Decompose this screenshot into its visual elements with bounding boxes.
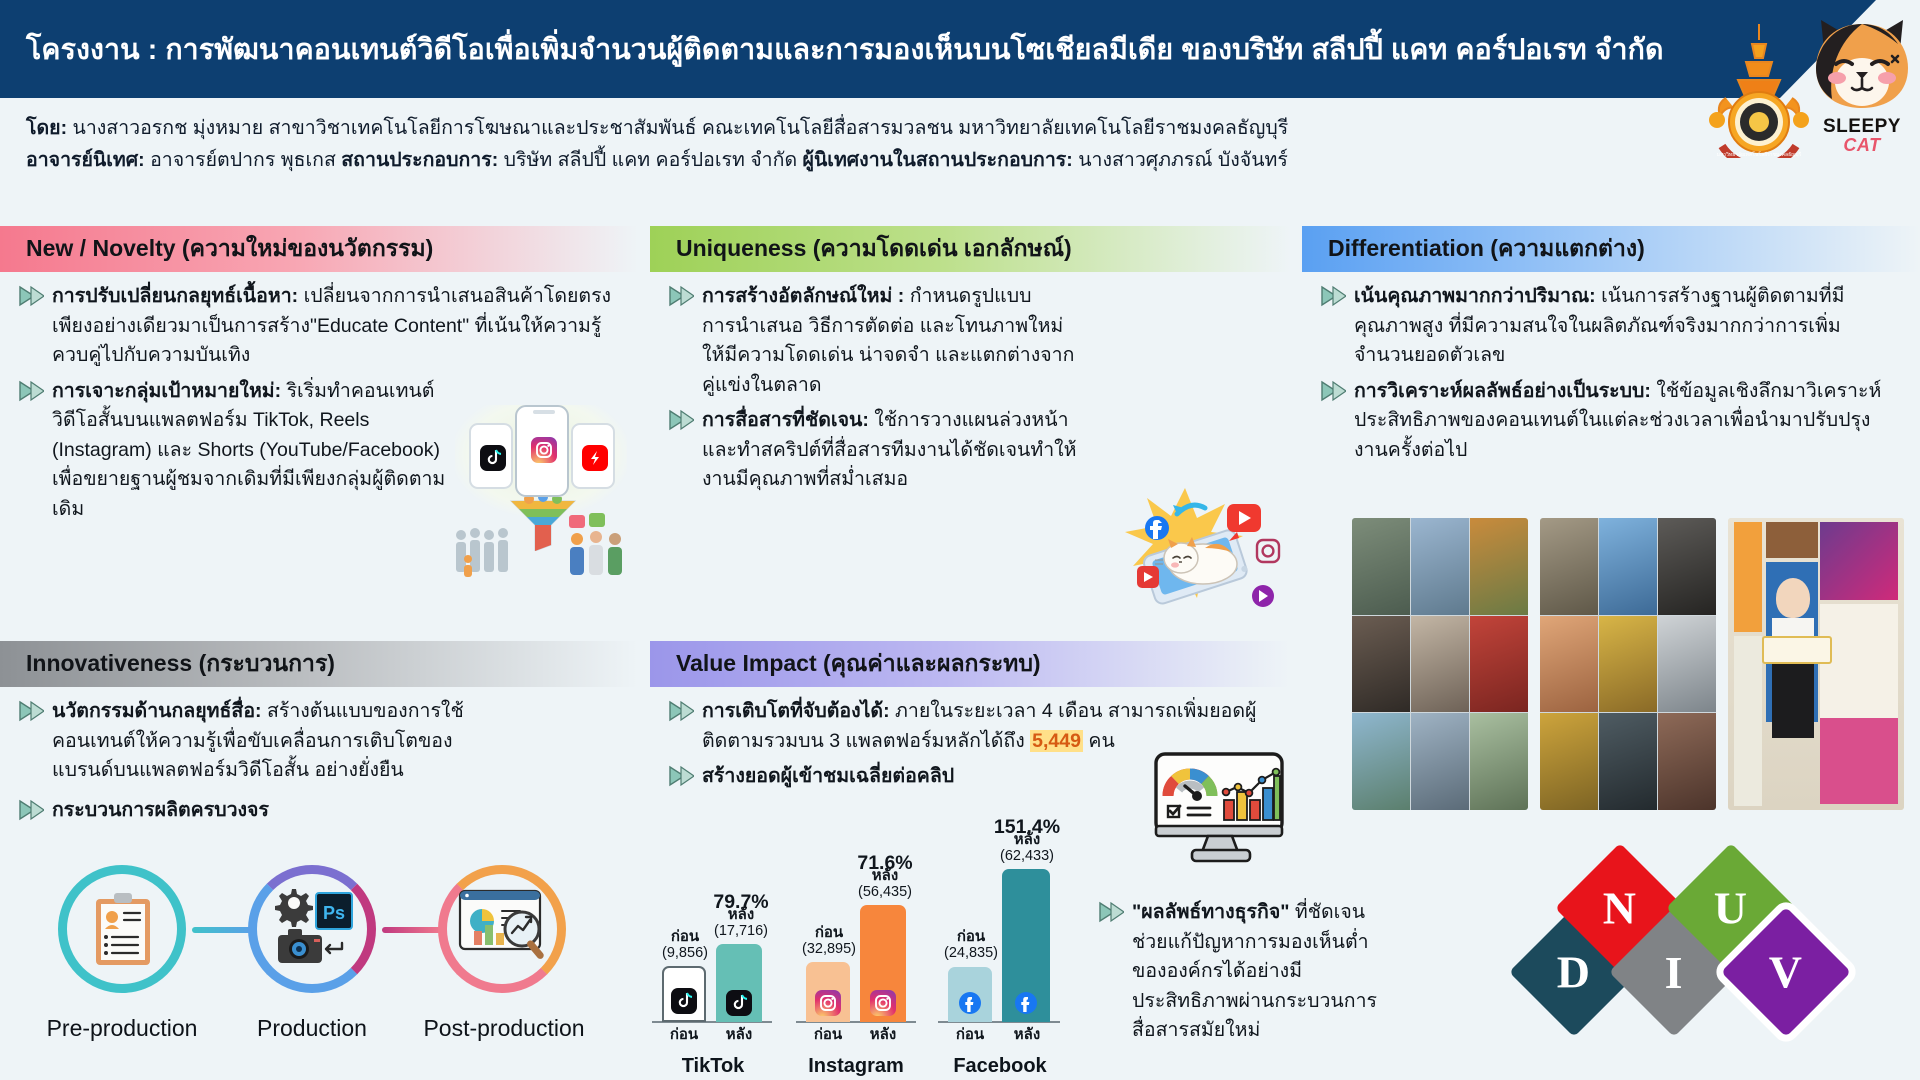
tiktok-icon (671, 988, 697, 1014)
label-instagram-before: ก่อน (32,895) (788, 924, 870, 958)
chevron-bullet-icon (668, 409, 694, 431)
advisor-value: อาจารย์ตปากร พุธเกส (150, 149, 336, 171)
tiktok-icon (726, 990, 752, 1016)
chevron-bullet-icon (668, 285, 694, 307)
screenshot-column-2 (1540, 518, 1716, 810)
section-title-innovativeness: Innovativeness (กระบวนการ) (0, 646, 335, 682)
result-lead: "ผลลัพธ์ทางธุรกิจ" (1132, 901, 1290, 923)
bullet-lead: การสร้างอัตลักษณ์ใหม่ : (702, 285, 904, 307)
author-block: โดย: นางสาวอรกช มุ่งหมาย สาขาวิชาเทคโนโล… (26, 112, 1666, 176)
engaged-users-icon (567, 513, 625, 577)
chevron-bullet-icon (18, 799, 44, 821)
platform-name-tiktok: TikTok (658, 1055, 768, 1078)
screenshot-column-1 (1352, 518, 1528, 810)
svg-text:Ps: Ps (323, 903, 345, 923)
author-value: นางสาวอรกช มุ่งหมาย สาขาวิชาเทคโนโลยีการ… (72, 117, 1288, 139)
pipeline-label-pre: Pre-production (42, 1015, 202, 1042)
advisor-label: อาจารย์นิเทศ: (26, 149, 145, 171)
production-pipeline-diagram: Ps Pre-production Production Post-produc (52, 865, 612, 1065)
pipeline-connector-1 (192, 927, 252, 933)
chevron-bullet-icon (18, 380, 44, 402)
tick-facebook-after: หลัง (1002, 1022, 1052, 1046)
chevron-bullet-icon (18, 285, 44, 307)
label-tiktok-after: หลัง (17,716) (700, 906, 782, 940)
advisor-line: อาจารย์นิเทศ: อาจารย์ตปากร พุธเกส สถานปร… (26, 144, 1666, 176)
instagram-icon (531, 437, 557, 463)
company-name-line1: SLEEPY (1808, 117, 1916, 136)
business-result-note: "ผลลัพธ์ทางธุรกิจ" ที่ชัดเจนช่วยแก้ปัญหา… (1092, 898, 1392, 1052)
bullet-lead: การเติบโตที่จับต้องได้: (702, 700, 890, 722)
platform-name-facebook: Facebook (938, 1055, 1062, 1078)
audience-people-icon (453, 523, 517, 577)
bullet-item: กระบวนการผลิตครบวงจร (12, 796, 626, 826)
company-logo: SLEEPY CAT (1808, 12, 1916, 162)
author-label: โดย: (26, 117, 67, 139)
bullet-lead: กระบวนการผลิตครบวงจร (52, 799, 269, 821)
award-photo (1728, 518, 1904, 810)
sleepy-cat-face-icon (1808, 12, 1916, 116)
bullet-lead: การสื่อสารที่ชัดเจน: (702, 409, 869, 431)
chevron-bullet-icon (668, 765, 694, 787)
supervisor-label: ผู้นิเทศงานในสถานประกอบการ: (803, 149, 1073, 171)
label-instagram-after: หลัง (56,435) (844, 867, 926, 901)
youtube-shorts-icon (582, 445, 608, 471)
chevron-bullet-icon (1320, 285, 1346, 307)
analytics-dashboard-magnifier-icon (458, 887, 550, 973)
section-body-differentiation: เน้นคุณภาพมากกว่าปริมาณ: เน้นการสร้างฐาน… (1302, 272, 1920, 465)
company-value: บริษัท สลีปปี้ แคท คอร์ปอเรท จำกัด (504, 149, 797, 171)
pipeline-label-post: Post-production (414, 1015, 594, 1042)
author-line: โดย: นางสาวอรกช มุ่งหมาย สาขาวิชาเทคโนโล… (26, 112, 1666, 144)
tick-instagram-before: ก่อน (804, 1022, 852, 1046)
bar-facebook-before (948, 967, 992, 1022)
tick-facebook-before: ก่อน (946, 1022, 994, 1046)
bullet-item: นวัตกรรมด้านกลยุทธ์สื่อ: สร้างต้นแบบของก… (12, 697, 472, 786)
tick-tiktok-before: ก่อน (660, 1022, 708, 1046)
phone-left (469, 423, 513, 489)
nidv-logo: D N I U V (1528, 862, 1920, 1072)
bullet-lead: การเจาะกลุ่มเป้าหมายใหม่: (52, 380, 281, 402)
phone-center (515, 405, 569, 497)
bar-instagram-before (806, 962, 850, 1022)
section-header-novelty: New / Novelty (ความใหม่ของนวัตกรรม) (0, 226, 638, 272)
section-title-uniqueness: Uniqueness (ความโดดเด่น เอกลักษณ์) (650, 231, 1072, 267)
poster-root: โครงงาน : การพัฒนาคอนเทนต์วิดีโอเพื่อเพิ… (0, 0, 1920, 1080)
label-facebook-before: ก่อน (24,835) (930, 928, 1012, 962)
svg-text:มหาวิทยาลัยเทคโนโลยีราชมงคลธัญ: มหาวิทยาลัยเทคโนโลยีราชมงคลธัญบุรี (1717, 151, 1802, 158)
section-body-innovativeness: นวัตกรรมด้านกลยุทธ์สื่อ: สร้างต้นแบบของก… (0, 687, 638, 825)
company-label: สถานประกอบการ: (341, 149, 498, 171)
platform-name-instagram: Instagram (794, 1055, 918, 1078)
bullet-lead: การปรับเปลี่ยนกลยุทธ์เนื้อหา: (52, 285, 298, 307)
instagram-icon (870, 990, 896, 1016)
followers-highlight: 5,449 (1030, 730, 1083, 752)
chevron-bullet-icon (668, 700, 694, 722)
bullet-item: การสร้างอัตลักษณ์ใหม่ : กำหนดรูปแบบการนำ… (662, 282, 1082, 400)
section-header-uniqueness: Uniqueness (ความโดดเด่น เอกลักษณ์) (650, 226, 1290, 272)
followers-growth-chart: ก่อน (9,856) 79.7% หลัง (17,716) ก่อน หล… (648, 790, 1078, 1080)
university-emblem-icon: มหาวิทยาลัยเทคโนโลยีราชมงคลธัญบุรี (1700, 18, 1818, 158)
label-facebook-after: หลัง (62,433) (985, 831, 1069, 865)
chevron-bullet-icon (1098, 901, 1124, 923)
pipeline-connector-2 (382, 927, 442, 933)
bullet-lead: นวัตกรรมด้านกลยุทธ์สื่อ: (52, 700, 262, 722)
section-header-value-impact: Value Impact (คุณค่าและผลกระทบ) (650, 641, 1290, 687)
section-innovativeness: Innovativeness (กระบวนการ) นวัตกรรมด้านก… (0, 641, 638, 841)
bar-instagram-after (860, 905, 906, 1022)
tick-tiktok-after: หลัง (714, 1022, 764, 1046)
bullet-item: การเติบโตที่จับต้องได้: ภายในระยะเวลา 4 … (662, 697, 1282, 756)
section-body-uniqueness: การสร้างอัตลักษณ์ใหม่ : กำหนดรูปแบบการนำ… (650, 272, 1290, 495)
bar-tiktok-before (662, 966, 706, 1022)
tiktok-content-screenshots-grid (1352, 518, 1912, 818)
bullet-item: การเจาะกลุ่มเป้าหมายใหม่: ริเริ่มทำคอนเท… (12, 377, 467, 525)
instagram-icon (815, 990, 841, 1016)
company-name-line2: CAT (1808, 136, 1916, 154)
facebook-icon (957, 990, 983, 1016)
section-header-differentiation: Differentiation (ความแตกต่าง) (1302, 226, 1920, 272)
chevron-bullet-icon (18, 700, 44, 722)
phone-right (571, 423, 615, 489)
section-title-novelty: New / Novelty (ความใหม่ของนวัตกรรม) (0, 231, 433, 267)
bullet-item: เน้นคุณภาพมากกว่าปริมาณ: เน้นการสร้างฐาน… (1314, 282, 1874, 371)
section-title-differentiation: Differentiation (ความแตกต่าง) (1302, 231, 1645, 267)
bullet-item: การปรับเปลี่ยนกลยุทธ์เนื้อหา: เปลี่ยนจาก… (12, 282, 626, 371)
section-title-value-impact: Value Impact (คุณค่าและผลกระทบ) (650, 646, 1041, 682)
bullet-item: "ผลลัพธ์ทางธุรกิจ" ที่ชัดเจนช่วยแก้ปัญหา… (1092, 898, 1392, 1046)
chart-caption: สร้างยอดผู้เข้าชมเฉลี่ยต่อคลิป (702, 765, 954, 787)
section-header-innovativeness: Innovativeness (กระบวนการ) (0, 641, 638, 687)
chevron-bullet-icon (1320, 380, 1346, 402)
bullet-text-after: คน (1083, 730, 1115, 752)
bullet-lead: การวิเคราะห์ผลลัพธ์อย่างเป็นระบบ: (1354, 380, 1651, 402)
analytics-monitor-icon (1152, 752, 1297, 864)
camera-photoshop-gear-icon: Ps (274, 887, 356, 971)
clipboard-checklist-icon (92, 891, 154, 969)
facebook-icon (1013, 990, 1039, 1016)
social-platforms-funnel-illustration (455, 405, 627, 580)
pipeline-label-prod: Production (236, 1015, 388, 1042)
tick-instagram-after: หลัง (858, 1022, 908, 1046)
supervisor-value: นางสาวศุภภรณ์ บังจันทร์ (1078, 149, 1288, 171)
page-title: โครงงาน : การพัฒนาคอนเทนต์วิดีโอเพื่อเพิ… (26, 26, 1726, 72)
bullet-item: การสื่อสารที่ชัดเจน: ใช้การวางแผนล่วงหน้… (662, 406, 1087, 495)
bullet-item: การวิเคราะห์ผลลัพธ์อย่างเป็นระบบ: ใช้ข้อ… (1314, 377, 1884, 466)
bullet-lead: เน้นคุณภาพมากกว่าปริมาณ: (1354, 285, 1596, 307)
tiktok-icon (480, 445, 506, 471)
sleeping-cat-on-phone-illustration (1085, 480, 1285, 610)
